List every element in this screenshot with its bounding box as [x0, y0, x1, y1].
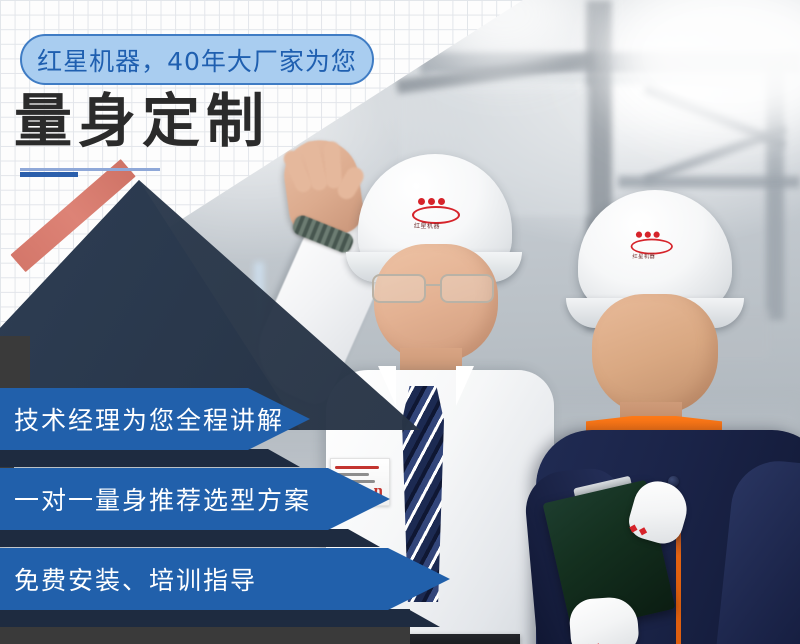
feature-banner-3[interactable]: 免费安装、培训指导	[0, 548, 450, 610]
feature-banner-2-label: 一对一量身推荐选型方案	[0, 481, 311, 517]
helmet-logo-text: 红星机器	[632, 252, 655, 260]
promo-banner-root: 红星机器 n	[0, 0, 800, 644]
title-underline-thick	[20, 172, 78, 177]
dark-block-upper	[0, 336, 30, 390]
page-title: 量身定制	[14, 92, 270, 150]
helmet-logo-technician: 红星机器	[631, 232, 670, 255]
tagline-pill-label: 红星机器，40年大厂家为您	[37, 42, 357, 78]
feature-banner-1-label: 技术经理为您全程讲解	[0, 401, 284, 437]
feature-banner-shadow-3	[0, 609, 470, 627]
logo-dots	[418, 198, 445, 205]
technician-face	[592, 294, 718, 414]
feature-banner-1[interactable]: 技术经理为您全程讲解	[0, 388, 310, 450]
engineer-eyeglasses	[370, 274, 504, 300]
logo-dots	[636, 232, 660, 238]
tagline-pill[interactable]: 红星机器，40年大厂家为您	[20, 34, 374, 85]
glasses-lens-right	[440, 274, 494, 303]
worker-technician: 红星机器	[540, 190, 800, 644]
glasses-bridge	[424, 284, 440, 286]
feature-banner-shadow-2	[0, 529, 410, 547]
helmet-logo-text: 红星机器	[414, 221, 440, 230]
engineer-face	[374, 244, 498, 362]
engineer-collar-right	[456, 366, 474, 406]
badge-line-1	[335, 466, 379, 469]
truss-chord-lower	[618, 176, 800, 188]
title-underline-thin	[20, 168, 160, 171]
helmet-logo-engineer: 红星机器	[412, 198, 456, 224]
glasses-lens-left	[372, 274, 426, 303]
feature-banner-3-label: 免费安装、培训指导	[0, 561, 257, 597]
feature-banner-2[interactable]: 一对一量身推荐选型方案	[0, 468, 390, 530]
